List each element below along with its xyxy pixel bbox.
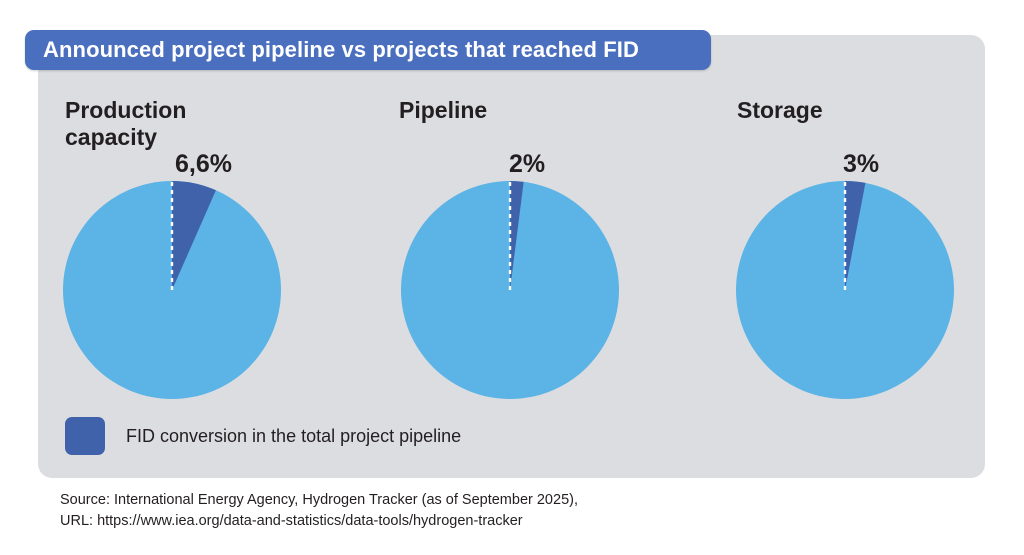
chart-value-pipeline: 2% [509,150,545,179]
source-line-1: Source: International Energy Agency, Hyd… [60,490,578,511]
chart-legend: FID conversion in the total project pipe… [65,417,461,455]
chart-title-storage: Storage [737,97,823,124]
chart-title-banner: Announced project pipeline vs projects t… [25,30,711,70]
chart-title-pipeline: Pipeline [399,97,487,124]
source-line-2: URL: https://www.iea.org/data-and-statis… [60,511,578,532]
pie-chart-storage [735,180,955,400]
chart-figure: Announced project pipeline vs projects t… [0,0,1024,555]
page-title: Announced project pipeline vs projects t… [25,37,639,63]
pie-chart-production-capacity [62,180,282,400]
pie-svg-pipeline [400,180,620,400]
chart-value-production-capacity: 6,6% [175,150,232,179]
source-note: Source: International Energy Agency, Hyd… [60,490,578,532]
legend-label-fid-conversion: FID conversion in the total project pipe… [126,426,461,447]
legend-swatch-fid-conversion [65,417,105,455]
pie-chart-pipeline [400,180,620,400]
pie-svg-storage [735,180,955,400]
pie-svg-production-capacity [62,180,282,400]
chart-value-storage: 3% [843,150,879,179]
chart-title-production-capacity: Production capacity [65,97,186,151]
